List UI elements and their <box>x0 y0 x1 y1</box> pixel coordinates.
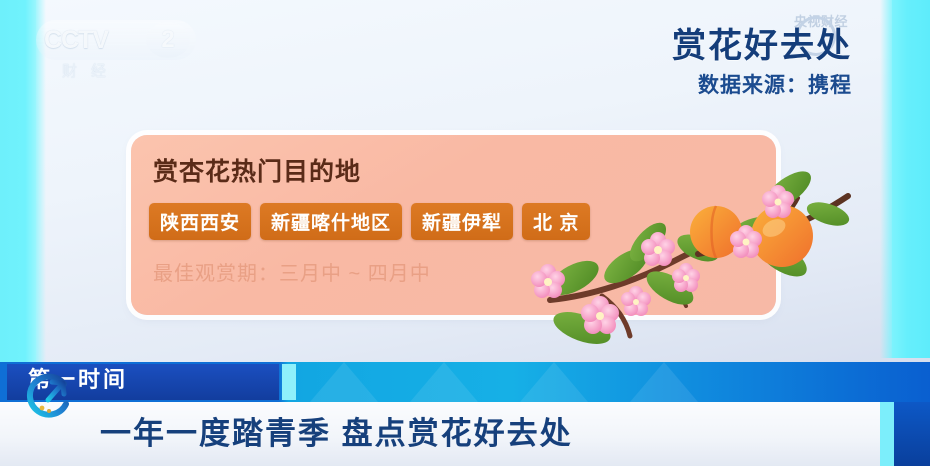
cctv-logo-subtitle: 财经 <box>62 60 172 80</box>
destination-tag-row: 陕西西安 新疆喀什地区 新疆伊犁 北 京 <box>149 203 590 240</box>
page-title: 赏花好去处 <box>672 24 852 68</box>
data-source-label: 数据来源：携程 <box>672 70 852 102</box>
broadcast-screen: CCTV 2 财经 央视财经 赏花好去处 数据来源：携程 赏杏花热门目的地 陕西… <box>0 0 930 466</box>
left-cyan-edge-strip <box>0 0 36 362</box>
cctv-logo-number: 2 <box>146 22 190 58</box>
card-heading: 赏杏花热门目的地 <box>153 152 361 188</box>
lower-third-band: 第一时间 一年一度踏青季 盘点赏花好去处 <box>0 362 930 466</box>
title-block: 赏花好去处 数据来源：携程 <box>672 24 852 102</box>
cctv-2-logo: CCTV 2 财经 <box>36 20 196 82</box>
swoosh-logo <box>22 370 74 420</box>
destination-tag[interactable]: 陕西西安 <box>149 203 251 240</box>
triangle-pattern-decoration <box>290 362 760 402</box>
right-cyan-edge-strip <box>892 0 930 358</box>
news-headline: 一年一度踏青季 盘点赏花好去处 <box>100 402 573 466</box>
label-accent-bar <box>282 364 296 400</box>
destination-card: 赏杏花热门目的地 陕西西安 新疆喀什地区 新疆伊犁 北 京 最佳观赏期：三月中 … <box>131 135 776 315</box>
destination-tag[interactable]: 新疆喀什地区 <box>260 203 402 240</box>
best-viewing-period: 最佳观赏期：三月中 ~ 四月中 <box>153 257 431 286</box>
lower-third-top-strip: 第一时间 <box>0 362 930 402</box>
destination-tag[interactable]: 新疆伊犁 <box>411 203 513 240</box>
headline-corner-accent <box>894 402 930 466</box>
destination-tag[interactable]: 北 京 <box>522 203 590 240</box>
